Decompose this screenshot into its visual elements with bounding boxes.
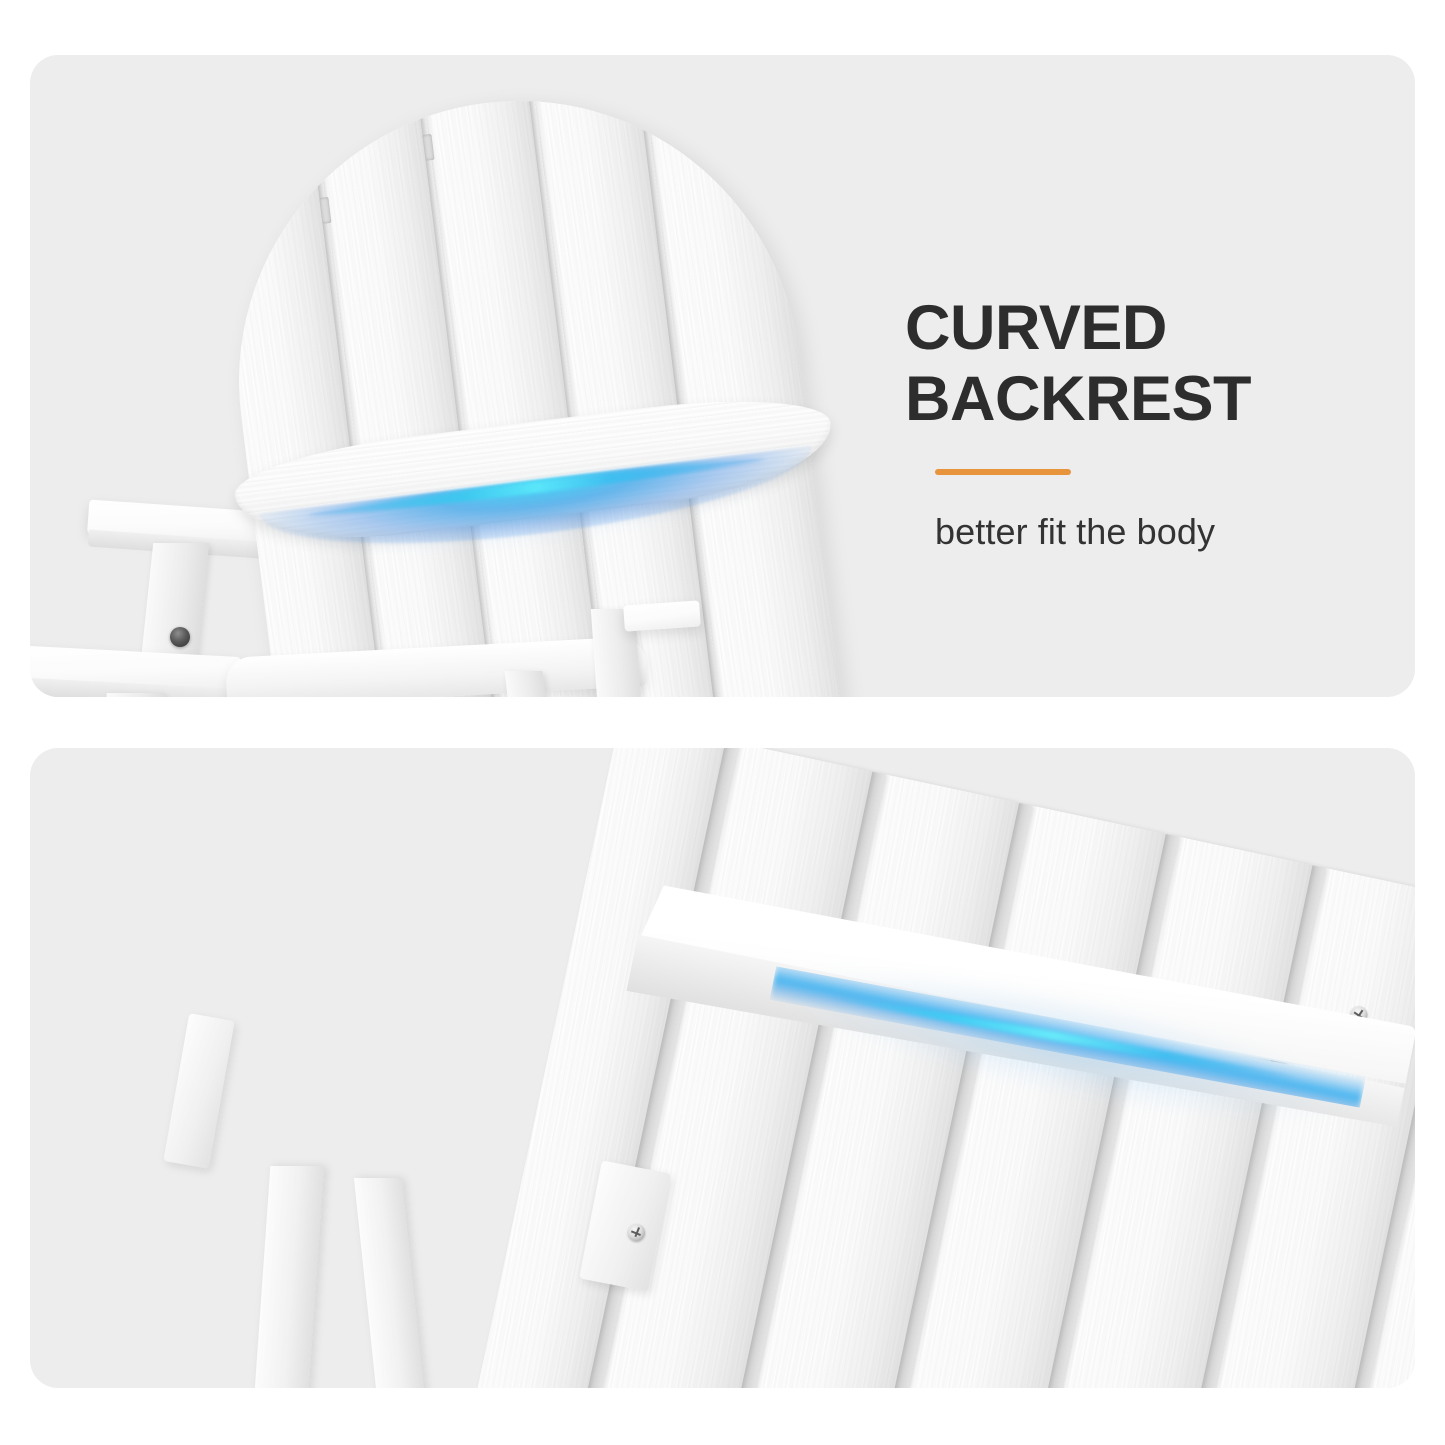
armrest-photo — [30, 748, 1415, 1388]
chair-rear-leg — [254, 1166, 325, 1388]
panel-subtitle-backrest: better fit the body — [935, 511, 1375, 553]
backrest-assembly — [207, 62, 903, 697]
feature-panel-curved-backrest: CURVED BACKREST better fit the body — [30, 55, 1415, 697]
panel-heading-backrest: CURVED BACKREST — [905, 293, 1375, 435]
lower-support-post — [101, 693, 165, 697]
infographic-page: CURVED BACKREST better fit the body — [0, 0, 1445, 1445]
armrest-bolt-upper — [170, 627, 190, 647]
right-armrest-stub — [623, 600, 701, 631]
chair-front-leg — [354, 1178, 426, 1388]
armrest-support-bracket — [163, 1013, 234, 1169]
bracket-screw — [628, 1224, 645, 1241]
feature-panel-wide-armrests: WIDE ARMRESTS for better arm relaxation — [30, 748, 1415, 1388]
backrest-text-block: CURVED BACKREST better fit the body — [905, 293, 1375, 553]
backrest-panel — [207, 69, 843, 697]
accent-rule — [935, 469, 1071, 475]
